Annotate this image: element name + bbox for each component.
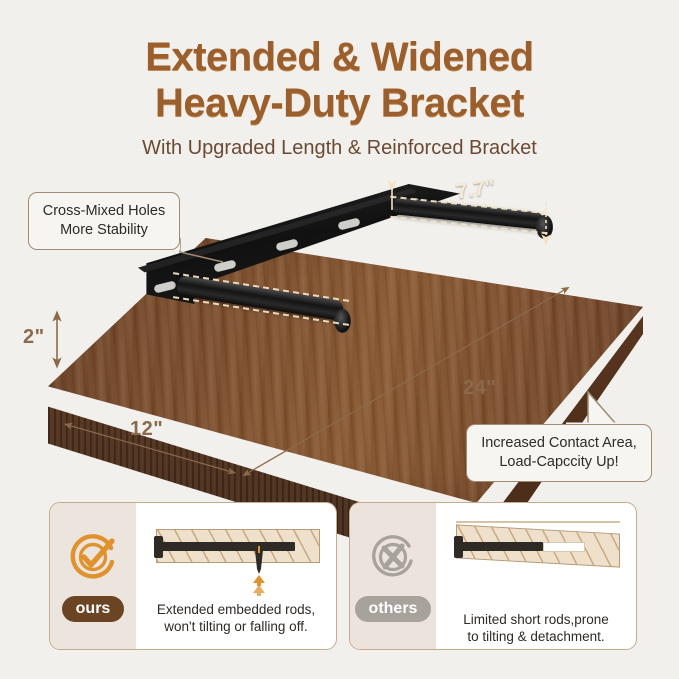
callout-cross-mixed-holes: Cross-Mixed Holes More Stability (28, 192, 180, 250)
callout-2-line-1: Increased Contact Area, (478, 434, 640, 453)
embedded-rod-long (161, 542, 295, 551)
ours-caption-line-1: Extended embedded rods, (157, 601, 315, 618)
ours-caption-line-2: won't tilting or falling off. (157, 618, 315, 635)
detachment-gap (543, 542, 585, 552)
panel-ours-caption: Extended embedded rods, won't tilting or… (151, 601, 321, 635)
callout-increased-contact-area: Increased Contact Area, Load-Capccity Up… (466, 424, 652, 482)
others-caption-line-1: Limited short rods,prone (463, 611, 609, 628)
diagram-short-rod (448, 519, 624, 575)
embedded-rod-short (461, 542, 543, 551)
panel-others-content: Limited short rods,prone to tilting & de… (436, 503, 636, 649)
infographic-canvas: Extended & Widened Heavy-Duty Bracket Wi… (0, 0, 679, 679)
dimension-label-thickness: 2" (23, 326, 45, 349)
title-line-1: Extended & Widened (145, 35, 533, 79)
badge-ours: ours (62, 596, 125, 622)
panel-others-caption: Limited short rods,prone to tilting & de… (457, 611, 615, 645)
upward-force-arrows-icon (251, 575, 267, 597)
comparison-panel-ours: ours Extended embedd (49, 502, 337, 650)
x-circle-icon (367, 531, 419, 583)
dimension-label-depth: 12" (130, 418, 163, 441)
callout-2-line-2: Load-Capccity Up! (478, 453, 640, 472)
comparison-panel-others: others Limited short rods,prone to tilti… (349, 502, 637, 650)
rod-end-cap (536, 215, 553, 239)
dimension-label-width: 24" (463, 377, 496, 400)
badge-others: others (355, 596, 432, 622)
title-line-2: Heavy-Duty Bracket (0, 80, 679, 126)
others-caption-line-2: to tilting & detachment. (463, 628, 609, 645)
diagram-extended-rod (148, 519, 324, 575)
page-title: Extended & Widened Heavy-Duty Bracket (0, 34, 679, 126)
panel-ours-icon-column: ours (50, 503, 136, 649)
callout-1-line-1: Cross-Mixed Holes (40, 202, 168, 221)
check-circle-icon (67, 531, 119, 583)
comparison-section: ours Extended embedd (0, 502, 679, 652)
page-subtitle: With Upgraded Length & Reinforced Bracke… (0, 136, 679, 160)
panel-ours-content: Extended embedded rods, won't tilting or… (136, 503, 336, 649)
callout-1-line-2: More Stability (40, 221, 168, 240)
panel-others-icon-column: others (350, 503, 436, 649)
wall-line (456, 521, 620, 523)
screw-icon (252, 545, 266, 575)
